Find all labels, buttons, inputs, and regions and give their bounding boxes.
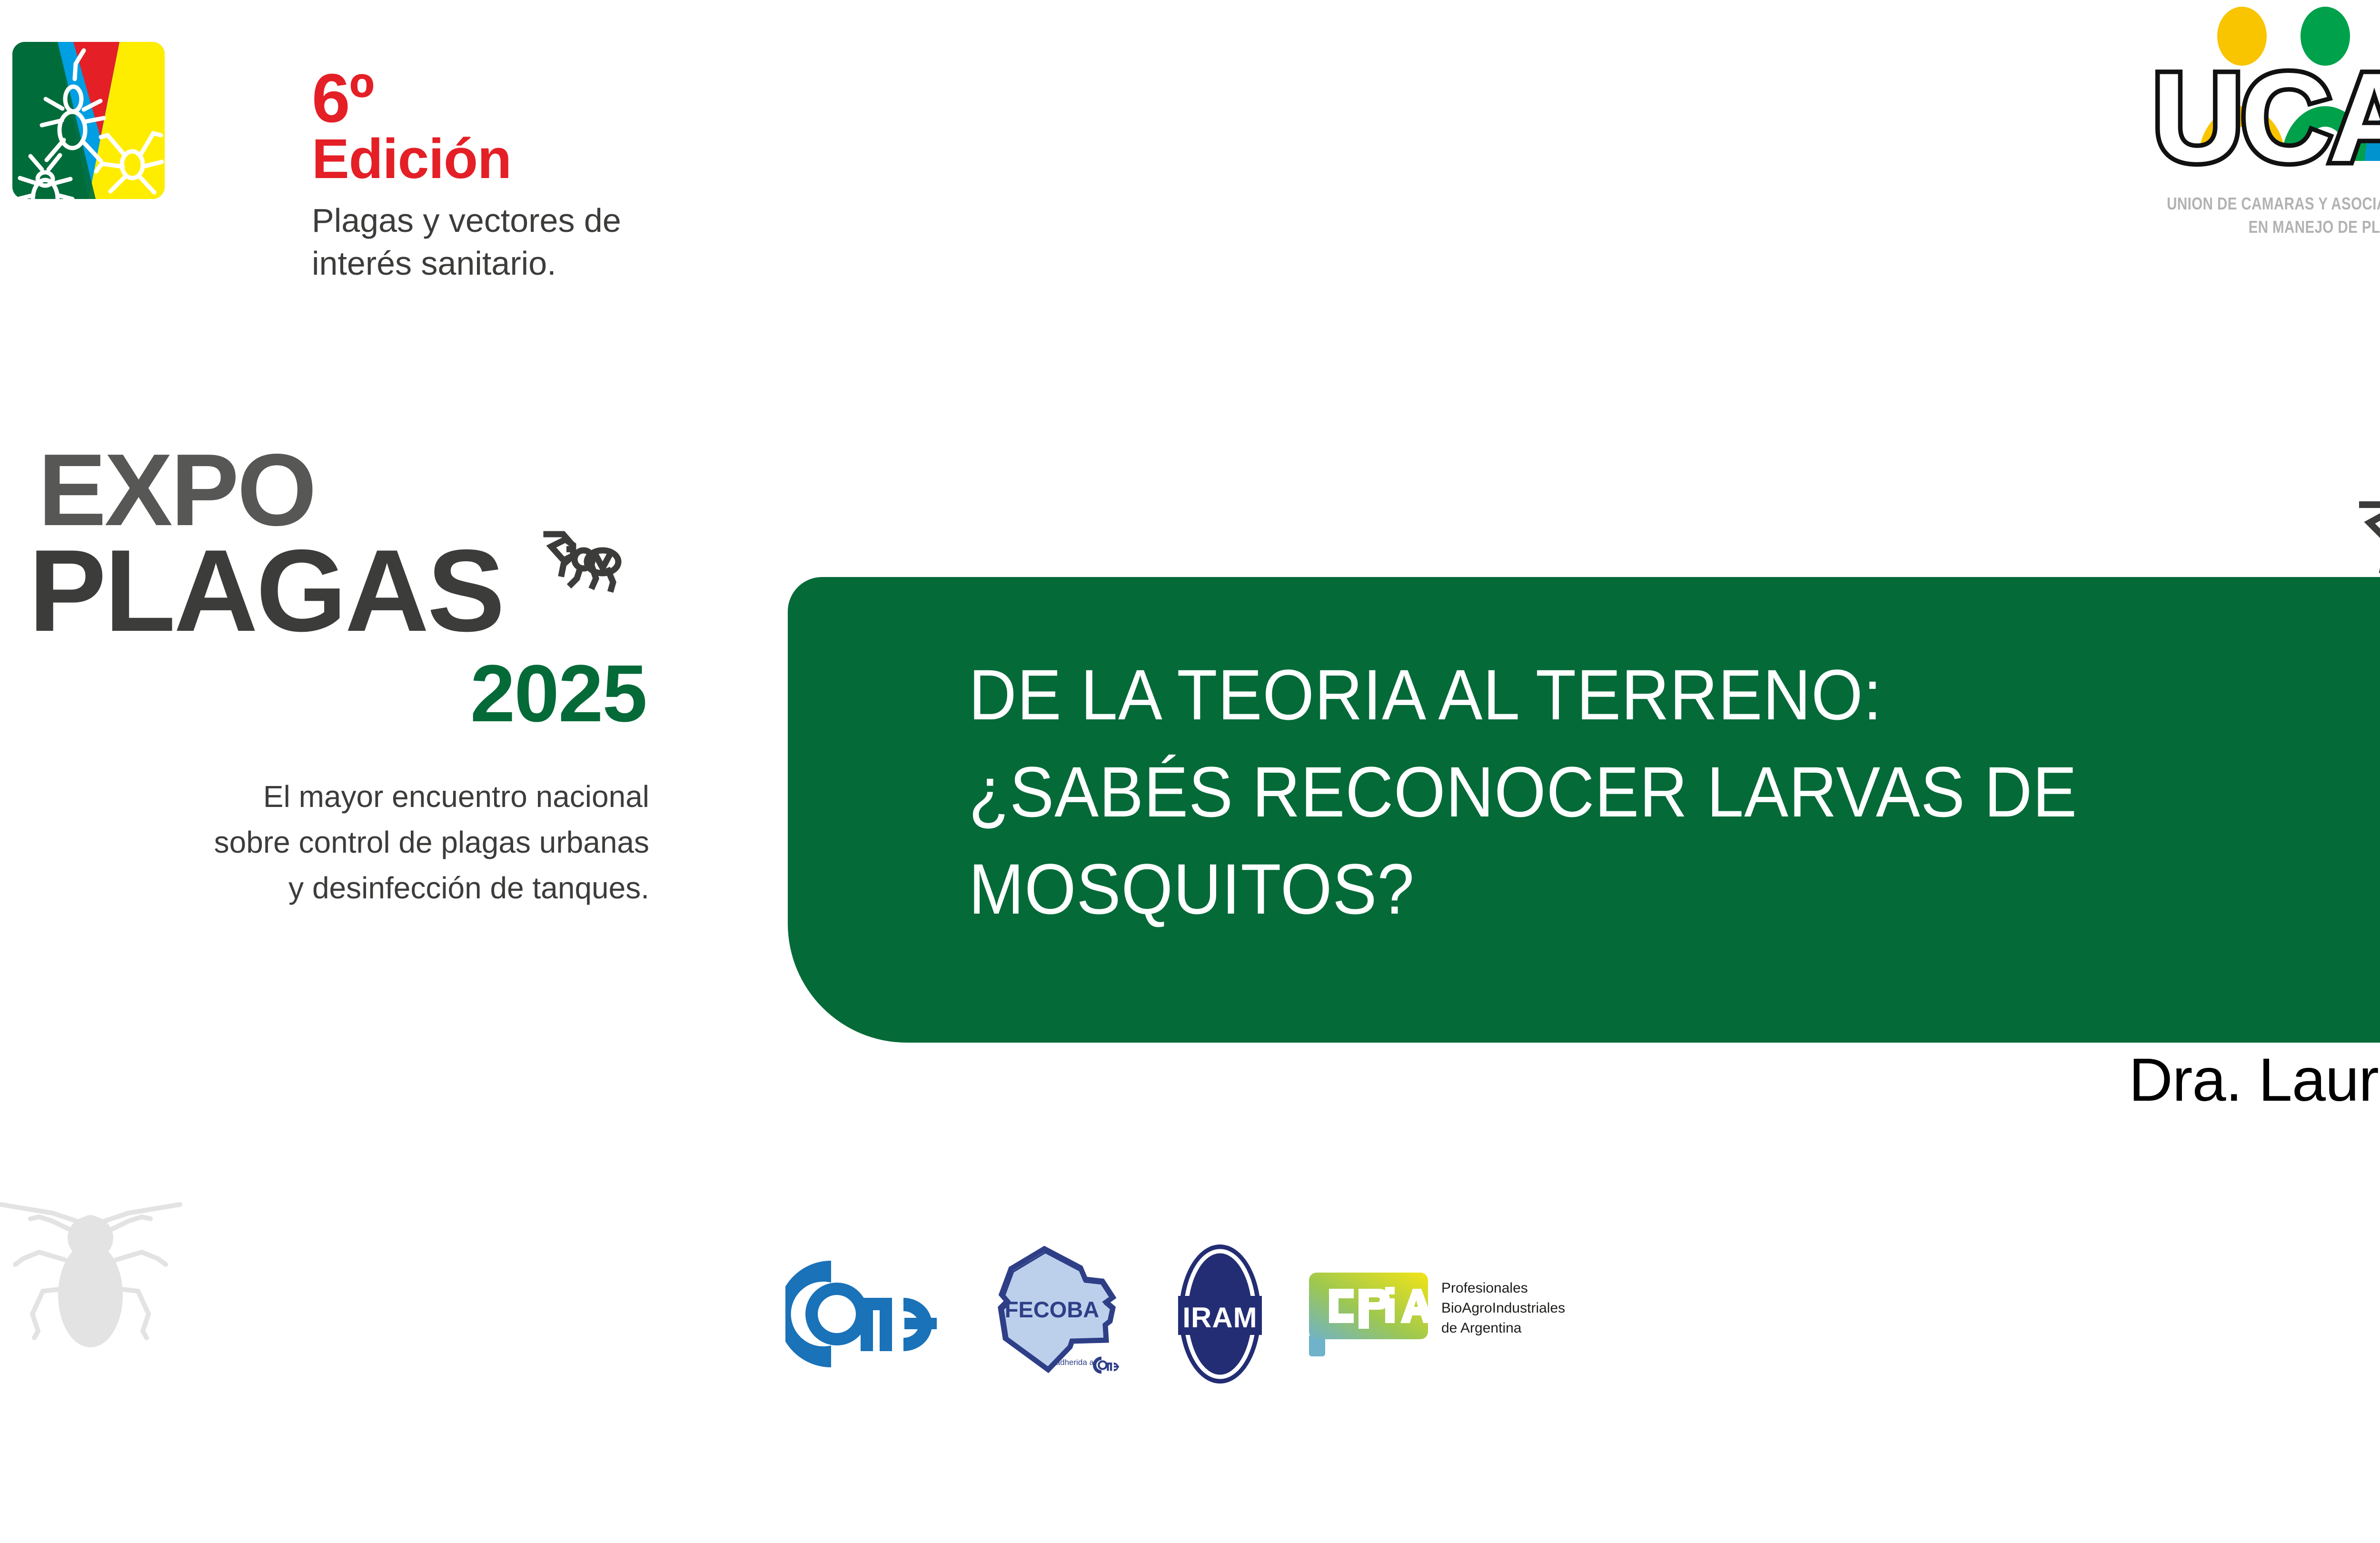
- fecoba-footnote: adherida a: [1056, 1358, 1094, 1367]
- iram-label: IRAM: [1182, 1302, 1257, 1334]
- expoplagas-logo-mark: [12, 42, 165, 199]
- cpia-text-line2: BioAgroIndustriales: [1441, 1300, 1565, 1316]
- ucaba-mark-svg: UCABA: [2109, 4, 2380, 194]
- talk-title-line3: MOSQUITOS?: [969, 840, 2380, 937]
- ucaba-logo: UCABA UNION DE CAMARAS Y ASOCIACIONES DE…: [2109, 4, 2380, 251]
- cockroach-watermark-icon: [0, 1171, 186, 1395]
- edition-word: Edición: [312, 131, 645, 187]
- edition-subtitle: Plagas y vectores de interés sanitario.: [312, 199, 645, 285]
- talk-title-line1: DE LA TEORIA AL TERRENO:: [969, 646, 2380, 743]
- logo-mark-svg: [12, 42, 165, 199]
- fecoba-label: FECOBA: [1005, 1297, 1099, 1322]
- sponsor-logo-fecoba[interactable]: FECOBA adherida a: [992, 1245, 1135, 1383]
- sponsor-logo-iram[interactable]: IRAM: [1170, 1243, 1270, 1385]
- came-logo-svg: [785, 1252, 957, 1376]
- edition-subtitle-line1: Plagas y vectores de: [312, 199, 645, 242]
- expo-tagline: El mayor encuentro nacional sobre contro…: [29, 774, 657, 911]
- edition-subtitle-line2: interés sanitario.: [312, 242, 645, 285]
- ant-icon-svg: [2322, 489, 2380, 580]
- sponsor-logos: came FECOBA adherida a IRAM: [785, 1219, 1904, 1409]
- iram-logo-svg: IRAM: [1170, 1243, 1270, 1385]
- cpia-logo-svg: Profesionales BioAgroIndustriales de Arg…: [1305, 1259, 1600, 1369]
- tagline-line1: El mayor encuentro nacional: [29, 774, 649, 819]
- ucaba-logo-mark: UCABA: [2109, 4, 2380, 194]
- talk-title: DE LA TEORIA AL TERRENO: ¿SABÉS RECONOCE…: [969, 646, 2380, 937]
- ucaba-subtitle: UNION DE CAMARAS Y ASOCIACIONES DE BUENO…: [2156, 192, 2380, 239]
- ant-icon: [514, 512, 638, 597]
- talk-title-line2: ¿SABÉS RECONOCER LARVAS DE: [969, 743, 2380, 840]
- edition-number: 6º: [312, 67, 645, 130]
- speaker-name: Dra. Laura Harburguer: [0, 1045, 2380, 1115]
- ant-icon: [2322, 489, 2380, 580]
- cpia-text-line3: de Argentina: [1441, 1320, 1522, 1336]
- tagline-line3: y desinfección de tanques.: [29, 865, 649, 911]
- cpia-text-line1: Profesionales: [1441, 1280, 1528, 1296]
- cockroach-icon-svg: [0, 1171, 186, 1395]
- ucaba-subtitle-line1: UNION DE CAMARAS Y ASOCIACIONES DE BUENO…: [2156, 192, 2380, 216]
- year-2025: 2025: [29, 647, 657, 740]
- fecoba-logo-svg: FECOBA adherida a: [992, 1245, 1135, 1383]
- talk-title-banner: DE LA TEORIA AL TERRENO: ¿SABÉS RECONOCE…: [788, 577, 2380, 1043]
- edition-block: 6º Edición Plagas y vectores de interés …: [312, 67, 645, 285]
- ucaba-wordmark: UCABA: [2152, 47, 2380, 188]
- sponsor-logo-came[interactable]: came: [785, 1252, 957, 1376]
- tagline-line2: sobre control de plagas urbanas: [29, 819, 649, 865]
- sponsor-logo-cpia[interactable]: Profesionales BioAgroIndustriales de Arg…: [1305, 1259, 1600, 1369]
- ant-icon-svg: [514, 512, 638, 597]
- ucaba-subtitle-line2: EN MANEJO DE PLAGAS URBANAS: [2156, 216, 2380, 239]
